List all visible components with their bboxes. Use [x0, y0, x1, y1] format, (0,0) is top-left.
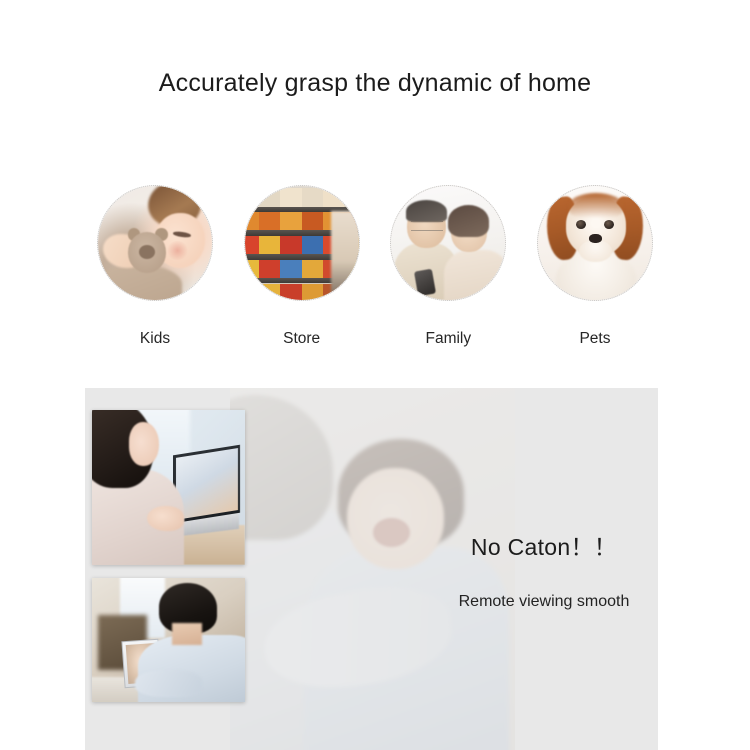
- store-photo-circle[interactable]: [244, 185, 360, 301]
- kids-photo-circle[interactable]: [97, 185, 213, 301]
- kids-photo-image: [98, 186, 212, 300]
- feature-item-pets[interactable]: Pets: [535, 185, 655, 348]
- showcase-inset-photo-1: [92, 410, 245, 565]
- feature-list: Kids: [95, 185, 655, 348]
- pets-photo-circle[interactable]: [537, 185, 653, 301]
- showcase-copy: No Caton！！ Remote viewing smooth: [430, 388, 658, 750]
- feature-item-store[interactable]: Store: [242, 185, 362, 348]
- showcase-subtext: Remote viewing smooth: [430, 593, 658, 611]
- showcase-panel: No Caton！！ Remote viewing smooth: [85, 388, 658, 750]
- page-title: Accurately grasp the dynamic of home: [0, 69, 750, 98]
- feature-label-pets: Pets: [579, 330, 610, 348]
- store-photo-image: [245, 186, 359, 300]
- showcase-headline: No Caton！！: [430, 528, 658, 562]
- pets-photo-image: [538, 186, 652, 300]
- feature-item-kids[interactable]: Kids: [95, 185, 215, 348]
- feature-item-family[interactable]: Family: [388, 185, 508, 348]
- feature-label-kids: Kids: [140, 330, 170, 348]
- feature-label-family: Family: [425, 330, 471, 348]
- showcase-inset-photo-2: [92, 578, 245, 702]
- family-photo-circle[interactable]: [390, 185, 506, 301]
- feature-label-store: Store: [283, 330, 320, 348]
- family-photo-image: [391, 186, 505, 300]
